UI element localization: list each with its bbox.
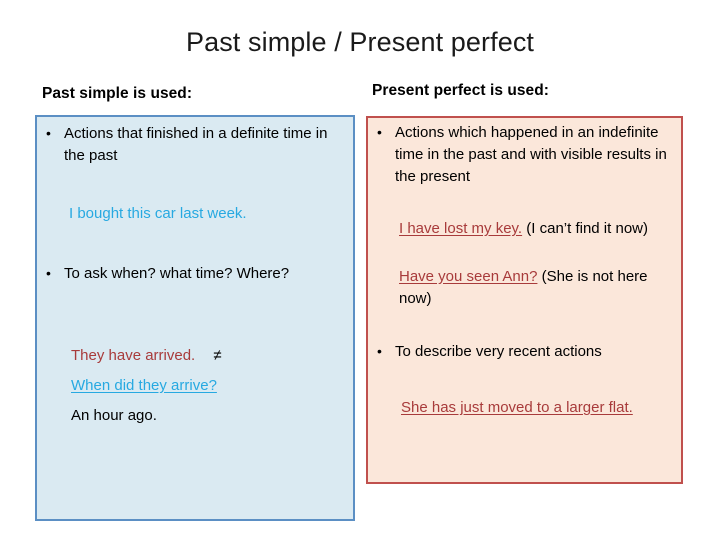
right-column-heading: Present perfect is used: [372, 81, 549, 100]
left-example-3: When did they arrive? [71, 375, 346, 397]
right-bullet-item-1: • Actions which happened in an indefinit… [377, 122, 679, 188]
left-bullet-text-2: To ask when? what time? Where? [64, 263, 346, 285]
left-example-2: They have arrived. [71, 347, 195, 364]
right-bullet-item-2: • To describe very recent actions [377, 341, 677, 363]
right-bullet-text-1: Actions which happened in an indefinite … [395, 122, 679, 188]
bullet-icon: • [46, 263, 64, 284]
left-example-2-row: They have arrived. ≠ [71, 345, 346, 367]
left-bullet-text-1: Actions that finished in a definite time… [64, 123, 341, 167]
bullet-icon: • [377, 122, 395, 143]
right-bullet-text-2: To describe very recent actions [395, 341, 677, 363]
slide-canvas: Past simple / Present perfect Past simpl… [0, 0, 720, 540]
right-example-2-row: Have you seen Ann? (She is not here now) [399, 266, 677, 310]
left-example-4: An hour ago. [71, 405, 346, 427]
right-example-3-highlight: She has just moved to a larger flat. [401, 399, 633, 416]
left-example-1: I bought this car last week. [69, 203, 349, 225]
past-simple-panel [35, 115, 355, 521]
left-bullet-item-2: • To ask when? what time? Where? [46, 263, 346, 285]
bullet-icon: • [377, 341, 395, 362]
page-title: Past simple / Present perfect [0, 26, 720, 59]
right-example-2-highlight: Have you seen Ann? [399, 268, 537, 285]
not-equal-icon: ≠ [213, 347, 221, 364]
left-column-heading: Past simple is used: [42, 84, 192, 103]
bullet-icon: • [46, 123, 64, 144]
right-example-1-highlight: I have lost my key. [399, 220, 522, 237]
right-example-1-row: I have lost my key. (I can’t find it now… [399, 218, 677, 240]
left-bullet-item-1: • Actions that finished in a definite ti… [46, 123, 341, 167]
right-example-1-note: (I can’t find it now) [522, 220, 648, 237]
right-example-3-row: She has just moved to a larger flat. [401, 397, 673, 419]
